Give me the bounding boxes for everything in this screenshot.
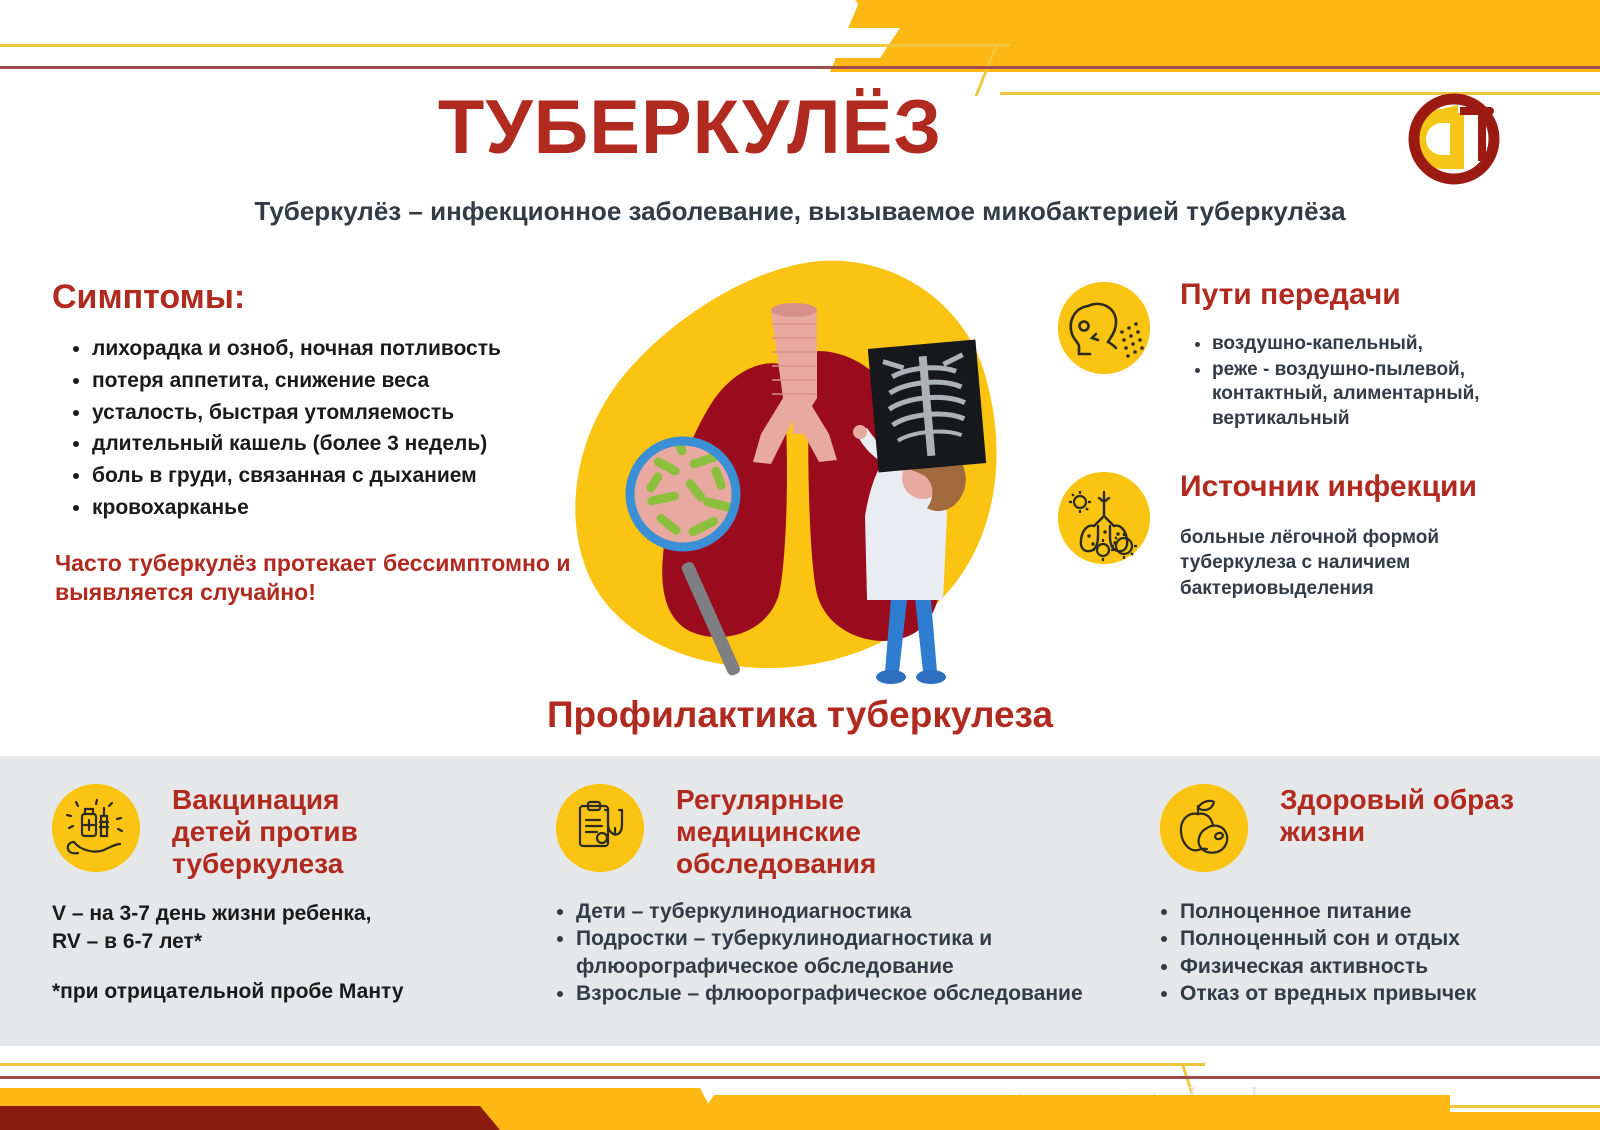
vaccine-hand-icon (52, 784, 140, 872)
site-watermark: cgon.rospotrebnadzor.ru (990, 1082, 1343, 1120)
header-white-notch (700, 28, 900, 58)
symptoms-list: лихорадка и озноб, ночная потливость пот… (58, 334, 592, 525)
list-item: потеря аппетита, снижение веса (92, 366, 592, 396)
symptoms-note: Часто туберкулёз протекает бессимптомно … (55, 549, 575, 607)
header-yellow-rule (0, 44, 1010, 47)
list-item: боль в груди, связанная с дыханием (92, 461, 592, 491)
prevention-col-1-line-2: RV – в 6-7 лет* (52, 928, 452, 956)
list-item: длительный кашель (более 3 недель) (92, 429, 592, 459)
prevention-col-3-title: Здоровый образ жизни (1280, 784, 1520, 848)
page-title: ТУБЕРКУЛЁЗ (0, 84, 1380, 171)
transmission-heading: Пути передачи (1180, 278, 1401, 312)
doctor-hand-left (853, 425, 867, 439)
source-text: больные лёгочной формой туберкулеза с на… (1180, 525, 1510, 601)
list-item: реже - воздушно-пылевой, контактный, али… (1212, 358, 1552, 432)
list-item: Полноценное питание (1180, 898, 1600, 925)
prevention-col-2-list: Дети – туберкулинодиагностика Подростки … (548, 898, 1116, 1007)
doctor-shoe-right (916, 670, 946, 684)
lungs-illustration (555, 248, 1035, 688)
list-item: Подростки – туберкулинодиагностика и флю… (576, 925, 1116, 980)
prevention-col-1-line-1: V – на 3-7 день жизни ребенка, (52, 900, 452, 928)
footer-yellow-band-c (1400, 1112, 1600, 1130)
clipboard-stethoscope-icon (556, 784, 644, 872)
page-subtitle: Туберкулёз – инфекционное заболевание, в… (0, 196, 1600, 227)
symptoms-heading: Симптомы: (52, 278, 245, 317)
coughing-head-icon (1058, 282, 1150, 374)
doctor-shoe-left (876, 670, 906, 684)
prevention-col-1-footnote: *при отрицательной пробе Манту (52, 978, 492, 1006)
prevention-col-2-title: Регулярные медицинские обследования (676, 784, 936, 880)
list-item: Взрослые – флюорографическое обследовани… (576, 980, 1116, 1007)
header-red-rule (0, 66, 1600, 69)
infected-lungs-icon (1058, 472, 1150, 564)
footer-yellow-rule (0, 1063, 1205, 1066)
list-item: Физическая активность (1180, 953, 1600, 980)
list-item: Отказ от вредных привычек (1180, 980, 1600, 1007)
prevention-heading: Профилактика туберкулеза (0, 694, 1600, 736)
apple-pear-icon (1160, 784, 1248, 872)
header-yellow-band (830, 0, 1600, 72)
transmission-list: воздушно-капельный, реже - воздушно-пыле… (1184, 332, 1552, 433)
prevention-col-1-title: Вакцинация детей против туберкулеза (172, 784, 422, 880)
list-item: усталость, быстрая утомляемость (92, 398, 592, 428)
header-yellow-top-band (0, 0, 1600, 30)
cgon-logo-icon (1398, 83, 1510, 195)
header-red-band (1075, 0, 1600, 40)
list-item: Дети – туберкулинодиагностика (576, 898, 1116, 925)
list-item: кровохарканье (92, 493, 592, 523)
footer-red-rule (0, 1076, 1600, 1079)
trachea-top (771, 303, 817, 317)
list-item: Полноценный сон и отдых (1180, 925, 1600, 952)
source-heading: Источник инфекции (1180, 470, 1477, 504)
list-item: лихорадка и озноб, ночная потливость (92, 334, 592, 364)
prevention-col-3-list: Полноценное питание Полноценный сон и от… (1152, 898, 1600, 1007)
list-item: воздушно-капельный, (1212, 332, 1552, 357)
footer-red-band (0, 1106, 500, 1130)
infographic-poster: ТУБЕРКУЛЁЗ Туберкулёз – инфекционное заб… (0, 0, 1600, 1130)
